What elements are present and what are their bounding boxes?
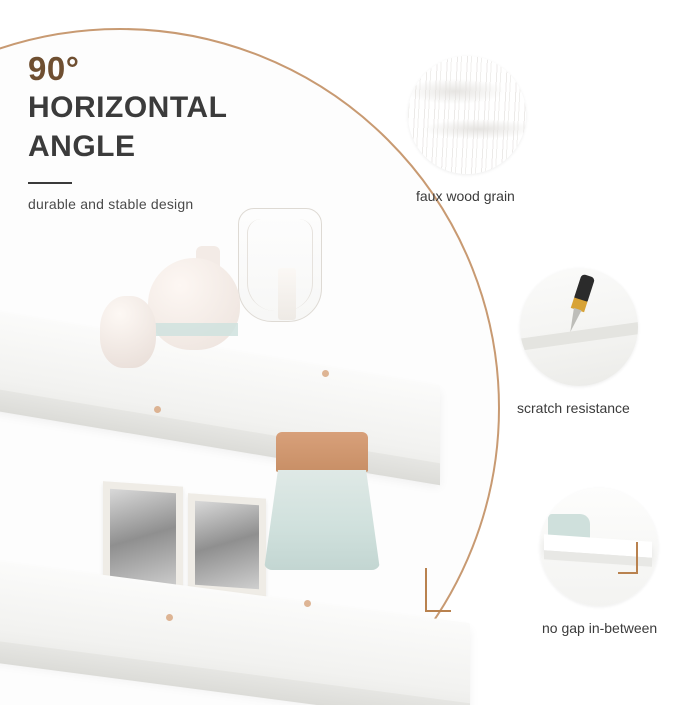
product-infographic: 90° HORIZONTAL ANGLE durable and stable … xyxy=(0,0,679,705)
vase-teal-band xyxy=(150,323,238,336)
callout-label: faux wood grain xyxy=(416,188,526,204)
headline-angle-value: 90° xyxy=(28,50,358,88)
callout-label: scratch resistance xyxy=(517,400,638,416)
shelf-lower-screw-right xyxy=(304,600,311,607)
callout-no-gap: no gap in-between xyxy=(540,488,658,636)
scratch-resistance-swatch xyxy=(520,268,638,386)
lamp-copper-cap xyxy=(276,432,368,472)
headline-title-line2: ANGLE xyxy=(28,129,358,166)
small-ceramic-vase xyxy=(100,296,156,368)
copper-lamp-decor xyxy=(258,432,388,572)
shelf-lower-screw-left xyxy=(166,614,173,621)
candle-decor xyxy=(278,268,296,320)
headline-divider xyxy=(28,182,72,184)
lamp-body xyxy=(264,470,380,570)
right-angle-bracket-icon-small xyxy=(618,542,638,574)
shelf-upper-screw-left xyxy=(154,406,161,413)
right-angle-bracket-icon xyxy=(425,568,451,612)
callout-scratch-resistance: scratch resistance xyxy=(520,268,638,416)
shelf-upper-screw-right xyxy=(322,370,329,377)
large-ceramic-vase xyxy=(148,258,240,350)
no-gap-swatch xyxy=(540,488,658,606)
floating-shelf-lower xyxy=(0,560,490,690)
faux-wood-grain-swatch xyxy=(408,56,526,174)
callout-faux-wood-grain: faux wood grain xyxy=(408,56,526,204)
callout-label: no gap in-between xyxy=(542,620,658,636)
shelf-edge-detail xyxy=(520,321,638,351)
pen-icon xyxy=(563,274,594,337)
headline-block: 90° HORIZONTAL ANGLE durable and stable … xyxy=(28,50,358,212)
headline-title-line1: HORIZONTAL xyxy=(28,90,358,127)
